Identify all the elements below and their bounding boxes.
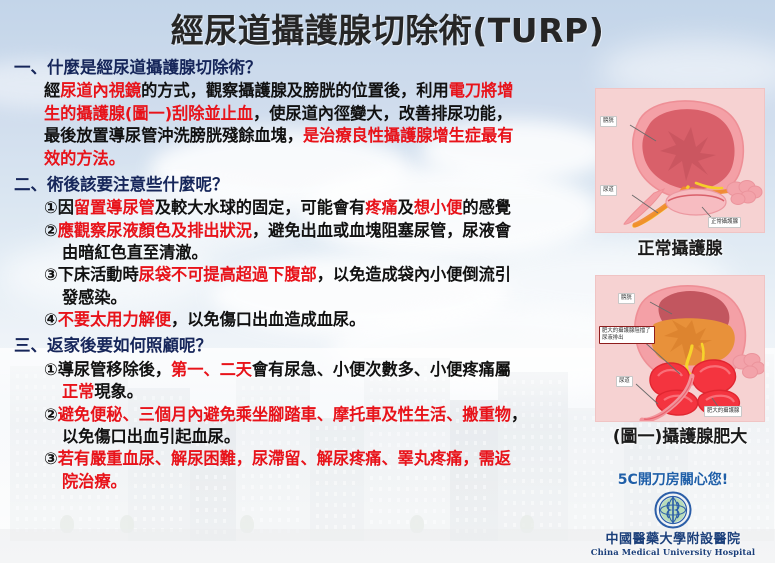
section-2-line-3: 由暗紅色直至清澈。 [14,242,614,264]
content-body: 一、什麼是經尿道攝護腺切除術？ 經尿道內視鏡的方式，觀察攝護腺及膀胱的位置後，利… [14,57,614,493]
figure1-label-bladder: 膀胱 [600,116,617,127]
text-run: ② [44,221,58,240]
figure2-label-bladder: 膀胱 [618,293,635,304]
hospital-name-en: China Medical University Hospital [579,547,767,557]
text-run-highlight: 院治療。 [62,472,127,491]
section-2-line-5: 發感染。 [14,287,614,309]
text-run-highlight: 若有嚴重血尿、解尿困難，尿滯留、解尿疼痛、睪丸疼痛，需返 [58,449,511,468]
text-run: 的感覺 [462,198,511,217]
text-run: 以免傷口出血引起血尿。 [62,427,240,446]
text-run: ③ [44,449,58,468]
text-run: 由暗紅色直至清澈。 [62,243,208,262]
text-run: 及 [398,198,414,217]
footer-branding: 5C開刀房關心您! 中國醫藥大學附設醫院 China Medical Unive… [579,469,767,557]
text-run-highlight: 避免便秘、三個月內避免乘坐腳踏車、摩托車及性生活、搬重物 [58,405,511,424]
section-3-line-3: ②避免便秘、三個月內避免乘坐腳踏車、摩托車及性生活、搬重物， [14,404,614,426]
section-1-line-2: 生的攝護腺(圖一)刮除並止血，使尿道內徑變大，改善排尿功能， [14,103,614,125]
text-run-highlight: 生的攝護腺(圖一)刮除並止血 [44,104,253,123]
figure2-label-enlarged-prostate: 肥大的攝護腺 [704,406,742,417]
text-run-highlight: 尿袋不可提高超過下腹部 [139,265,317,284]
text-run: ，使尿道內徑變大，改善排尿功能， [253,104,512,123]
text-run: ，避免出血或血塊阻塞尿管，尿液會 [252,221,511,240]
section-heading-3: 三、返家後要如何照顧呢？ [14,335,614,357]
section-3-line-6: 院治療。 [14,471,614,493]
section-1-line-4: 效的方法。 [14,148,614,170]
figure1-label-urethra: 尿道 [600,185,617,196]
section-3-line-4: 以免傷口出血引起血尿。 [14,426,614,448]
section-heading-2: 二、術後該要注意些什麼呢？ [14,174,614,196]
normal-prostate-illustration [596,89,764,232]
text-run: ①因 [44,198,74,217]
text-run-highlight: 效的方法。 [44,149,125,168]
section-2-line-2: ②應觀察尿液顏色及排出狀況，避免出血或血塊阻塞尿管，尿液會 [14,220,614,242]
text-run: 會有尿急、小便次數多、小便疼痛屬 [252,360,511,379]
text-run: 經 [44,81,60,100]
slogan-text: 5C開刀房關心您! [579,469,767,489]
text-run-highlight: 應觀察尿液顏色及排出狀況 [58,221,252,240]
text-run: ，以免傷口出血造成血尿。 [171,310,365,329]
text-run: 的方式，觀察攝護腺及膀胱的位置後，利用 [141,81,449,100]
text-run-highlight: 是治療良性攝護腺增生症最有 [303,126,513,145]
hospital-logo-icon [654,491,692,529]
text-run: 發感染。 [62,288,127,307]
text-run: ①導尿管移除後， [44,360,171,379]
text-run: 最後放置導尿管沖洗膀胱殘餘血塊， [44,126,303,145]
slide-root: 經尿道攝護腺切除術(TURP) 一、什麼是經尿道攝護腺切除術？ 經尿道內視鏡的方… [0,0,775,563]
text-run-highlight: 疼痛 [365,198,397,217]
section-3-line-2: 正常現象。 [14,381,614,403]
text-run-highlight: 正常 [62,382,94,401]
section-2-line-4: ③下床活動時尿袋不可提高超過下腹部，以免造成袋內小便倒流引 [14,264,614,286]
section-3-line-1: ①導尿管移除後，第一、二天會有尿急、小便次數多、小便疼痛屬 [14,359,614,381]
figure-enlarged-prostate: 膀胱 肥大的攝護腺阻擋了尿液排出 尿道 肥大的攝護腺 [595,275,765,422]
text-run: ，以免造成袋內小便倒流引 [317,265,511,284]
figure1-caption: 正常攝護腺 [585,234,775,259]
text-run-highlight: 第一、二天 [171,360,252,379]
figure2-label-obstruction: 肥大的攝護腺阻擋了尿液排出 [599,326,655,344]
section-2-line-1: ①因留置導尿管及較大水球的固定，可能會有疼痛及想小便的感覺 [14,197,614,219]
section-3-line-5: ③若有嚴重血尿、解尿困難，尿滯留、解尿疼痛、睪丸疼痛，需返 [14,448,614,470]
text-run-highlight: 留置導尿管 [74,198,155,217]
text-run: 及較大水球的固定，可能會有 [155,198,365,217]
text-run-highlight: 尿道內視鏡 [60,81,141,100]
figure1-label-normal-prostate: 正常攝護腺 [708,217,741,228]
text-run-highlight: 想小便 [414,198,463,217]
text-run: ， [511,405,527,424]
text-run-highlight: 不要太用力解便 [58,310,171,329]
hospital-name-cn: 中國醫藥大學附設醫院 [579,528,767,547]
text-run: ④ [44,310,58,329]
text-run: ③下床活動時 [44,265,139,284]
section-2-line-6: ④不要太用力解便，以免傷口出血造成血尿。 [14,309,614,331]
figure2-caption: (圖一)攝護腺肥大 [585,422,775,447]
text-run: 現象。 [94,382,143,401]
section-1-line-1: 經尿道內視鏡的方式，觀察攝護腺及膀胱的位置後，利用電刀將增 [14,80,614,102]
text-run: ② [44,405,58,424]
section-1-line-3: 最後放置導尿管沖洗膀胱殘餘血塊，是治療良性攝護腺增生症最有 [14,125,614,147]
figure2-label-urethra: 尿道 [616,376,633,387]
text-run-highlight: 電刀將增 [449,81,514,100]
figure-normal-prostate: 膀胱 尿道 正常攝護腺 [595,88,765,233]
section-heading-1: 一、什麼是經尿道攝護腺切除術？ [14,57,614,79]
